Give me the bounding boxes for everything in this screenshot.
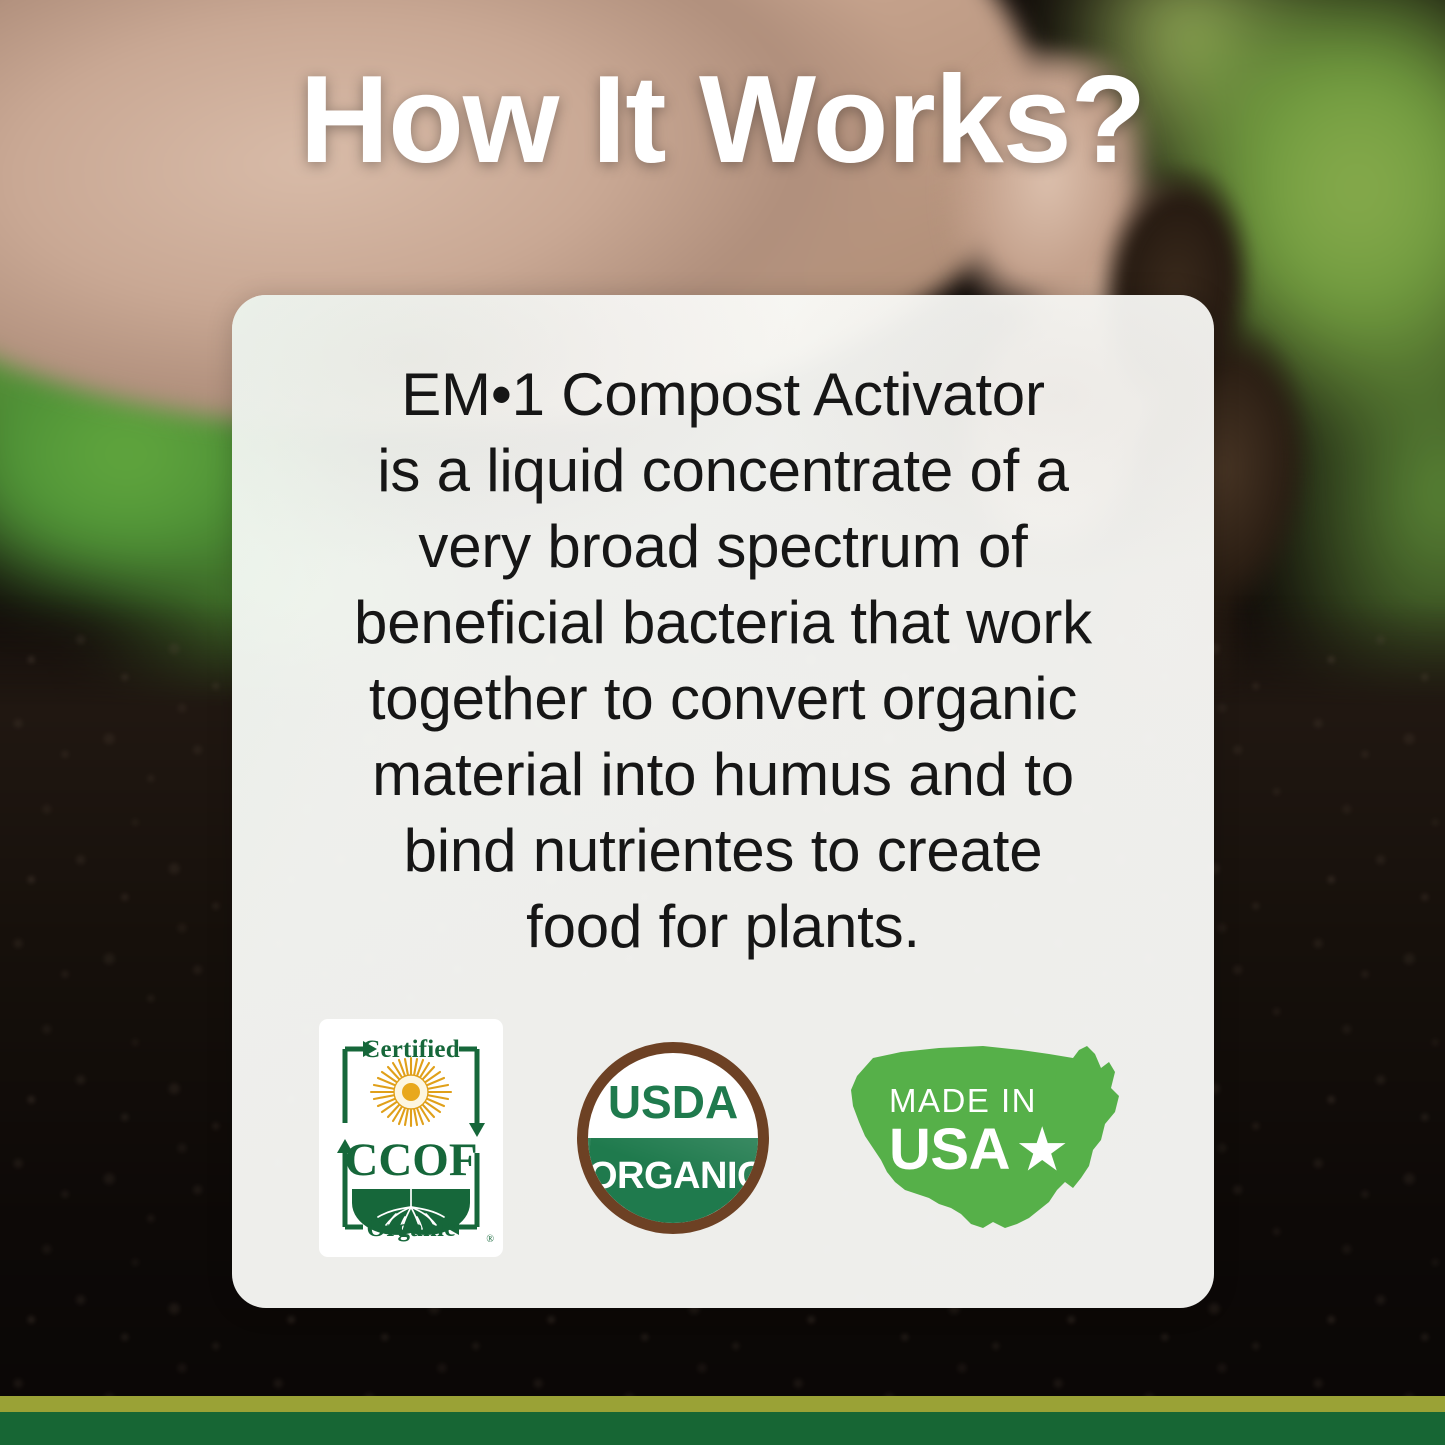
body-line: material into humus and to bbox=[272, 737, 1174, 813]
sunflower-icon bbox=[367, 1055, 455, 1129]
ccof-acronym: CCOF bbox=[319, 1137, 503, 1184]
usda-organic-badge: USDA ORGANIC bbox=[577, 1042, 769, 1234]
made-in-usa-badge: MADE IN USA ★ bbox=[843, 1032, 1127, 1244]
body-line: beneficial bacteria that work bbox=[272, 585, 1174, 661]
product-infographic: How It Works? EM•1 Compost Activator is … bbox=[0, 0, 1445, 1445]
star-icon: ★ bbox=[1018, 1123, 1066, 1177]
body-line: very broad spectrum of bbox=[272, 509, 1174, 585]
footer-stripe-olive bbox=[0, 1396, 1445, 1412]
usda-bottom-label: ORGANIC bbox=[588, 1157, 758, 1195]
made-in-usa-text: MADE IN USA ★ bbox=[889, 1084, 1066, 1179]
ccof-certified-organic-badge: Certified bbox=[319, 1019, 503, 1257]
body-copy: EM•1 Compost Activator is a liquid conce… bbox=[272, 357, 1174, 965]
certification-badge-row: Certified bbox=[232, 1013, 1214, 1263]
content-card: EM•1 Compost Activator is a liquid conce… bbox=[232, 295, 1214, 1308]
registered-trademark-icon: ® bbox=[486, 1234, 494, 1245]
body-line: food for plants. bbox=[272, 889, 1174, 965]
usda-top-label: USDA bbox=[588, 1079, 758, 1125]
body-line: together to convert organic bbox=[272, 661, 1174, 737]
usa-label-row: USA ★ bbox=[889, 1121, 1066, 1179]
ccof-bottom-label: Organic bbox=[319, 1215, 503, 1243]
usa-label: USA bbox=[889, 1121, 1010, 1179]
made-in-label: MADE IN bbox=[889, 1084, 1066, 1117]
body-line: EM•1 Compost Activator bbox=[272, 357, 1174, 433]
body-line: bind nutrientes to create bbox=[272, 813, 1174, 889]
footer-stripe-green bbox=[0, 1412, 1445, 1445]
body-line: is a liquid concentrate of a bbox=[272, 433, 1174, 509]
page-title: How It Works? bbox=[0, 58, 1445, 182]
